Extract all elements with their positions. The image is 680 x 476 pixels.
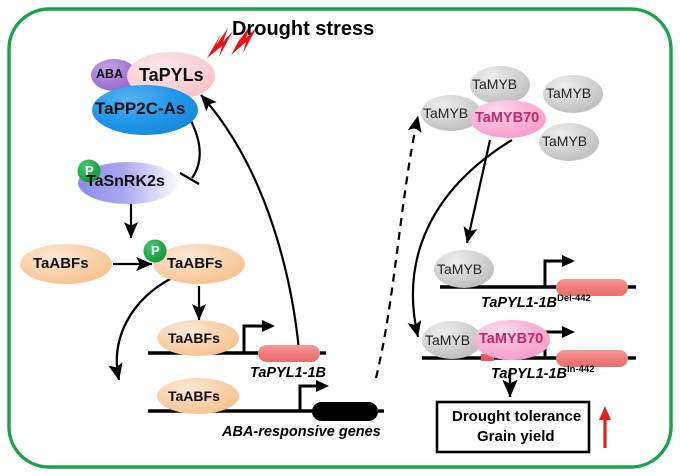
tamyb70-ellipse [470,100,546,138]
taabfs-promoter1-ellipse [157,320,239,356]
tapp2c-as-ellipse [92,85,198,135]
tamyb70-in-ellipse [474,320,550,360]
phospho-badge-snrk2s [78,160,101,183]
tamyb-right-lower-ellipse [539,123,599,161]
taabfs-inactive-ellipse [20,244,112,284]
outcome-box [437,402,589,452]
diagram-vector-layer [0,0,680,476]
tamyb-top-ellipse [470,66,530,104]
taabfs-promoter2-ellipse [157,378,239,414]
up-arrow-icon [599,406,611,448]
figure-canvas: Drought stress ABA TaPYLs TaPP2C-As P Ta… [0,0,680,476]
tamyb-right-upper-ellipse [543,75,603,113]
tapyl1-1b-feedback-arrow [201,95,299,350]
tamyb70-to-in-allele-arrow [413,140,512,337]
tamyb70-to-del-allele-arrow [467,140,490,243]
lightning-bolt-icon [207,24,257,58]
phospho-badge-abfs [144,240,167,263]
tamyb-del-ellipse [434,250,494,288]
tapyl1-1b-to-tamyb-dashed-arrow [376,116,418,378]
tamyb-in-ellipse [422,321,482,359]
taabfs-active-ellipse [153,244,245,284]
